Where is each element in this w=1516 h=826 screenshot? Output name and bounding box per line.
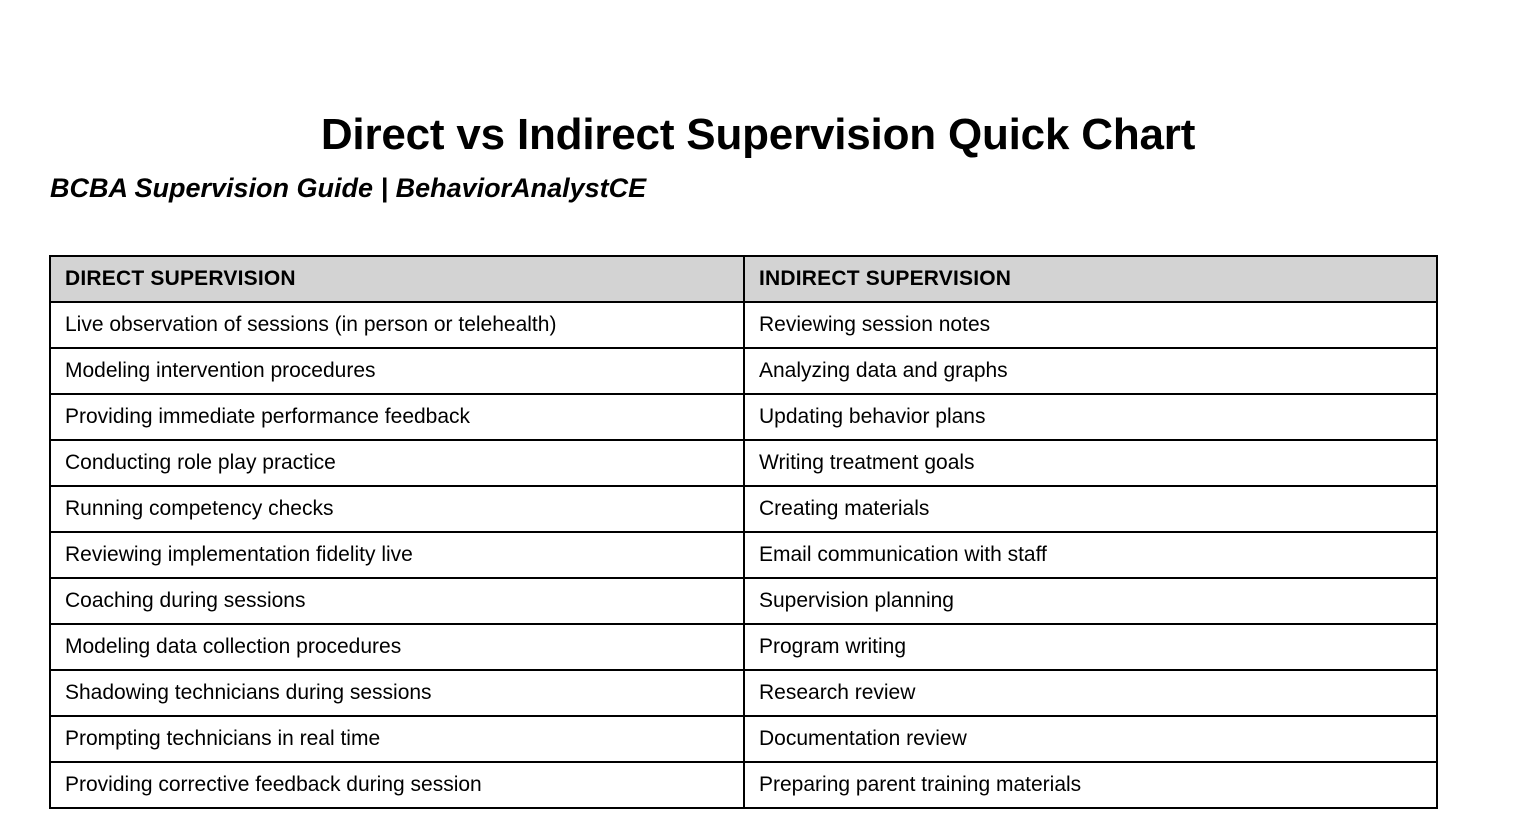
cell-indirect: Preparing parent training materials <box>744 762 1437 808</box>
table-row: Reviewing implementation fidelity liveEm… <box>50 532 1437 578</box>
cell-indirect: Research review <box>744 670 1437 716</box>
cell-direct: Reviewing implementation fidelity live <box>50 532 744 578</box>
cell-direct: Live observation of sessions (in person … <box>50 302 744 348</box>
cell-indirect: Supervision planning <box>744 578 1437 624</box>
cell-indirect: Reviewing session notes <box>744 302 1437 348</box>
document-page: Direct vs Indirect Supervision Quick Cha… <box>0 0 1516 826</box>
table-header: DIRECT SUPERVISION INDIRECT SUPERVISION <box>50 256 1437 302</box>
table-row: Coaching during sessionsSupervision plan… <box>50 578 1437 624</box>
comparison-table: DIRECT SUPERVISION INDIRECT SUPERVISION … <box>49 255 1438 809</box>
cell-indirect: Email communication with staff <box>744 532 1437 578</box>
column-header-direct: DIRECT SUPERVISION <box>50 256 744 302</box>
cell-indirect: Updating behavior plans <box>744 394 1437 440</box>
table-row: Shadowing technicians during sessionsRes… <box>50 670 1437 716</box>
cell-indirect: Writing treatment goals <box>744 440 1437 486</box>
page-title: Direct vs Indirect Supervision Quick Cha… <box>0 107 1516 163</box>
cell-direct: Prompting technicians in real time <box>50 716 744 762</box>
cell-direct: Shadowing technicians during sessions <box>50 670 744 716</box>
table-row: Live observation of sessions (in person … <box>50 302 1437 348</box>
table-row: Modeling intervention proceduresAnalyzin… <box>50 348 1437 394</box>
cell-indirect: Analyzing data and graphs <box>744 348 1437 394</box>
cell-indirect: Documentation review <box>744 716 1437 762</box>
page-subtitle: BCBA Supervision Guide | BehaviorAnalyst… <box>50 170 646 206</box>
table-header-row: DIRECT SUPERVISION INDIRECT SUPERVISION <box>50 256 1437 302</box>
cell-direct: Modeling intervention procedures <box>50 348 744 394</box>
table-row: Modeling data collection proceduresProgr… <box>50 624 1437 670</box>
comparison-table-container: DIRECT SUPERVISION INDIRECT SUPERVISION … <box>49 255 1436 809</box>
cell-direct: Modeling data collection procedures <box>50 624 744 670</box>
table-row: Providing immediate performance feedback… <box>50 394 1437 440</box>
table-row: Prompting technicians in real timeDocume… <box>50 716 1437 762</box>
cell-direct: Conducting role play practice <box>50 440 744 486</box>
table-row: Providing corrective feedback during ses… <box>50 762 1437 808</box>
column-header-indirect: INDIRECT SUPERVISION <box>744 256 1437 302</box>
cell-direct: Providing corrective feedback during ses… <box>50 762 744 808</box>
cell-indirect: Creating materials <box>744 486 1437 532</box>
table-row: Running competency checksCreating materi… <box>50 486 1437 532</box>
cell-direct: Providing immediate performance feedback <box>50 394 744 440</box>
cell-indirect: Program writing <box>744 624 1437 670</box>
table-row: Conducting role play practiceWriting tre… <box>50 440 1437 486</box>
table-body: Live observation of sessions (in person … <box>50 302 1437 808</box>
cell-direct: Coaching during sessions <box>50 578 744 624</box>
cell-direct: Running competency checks <box>50 486 744 532</box>
